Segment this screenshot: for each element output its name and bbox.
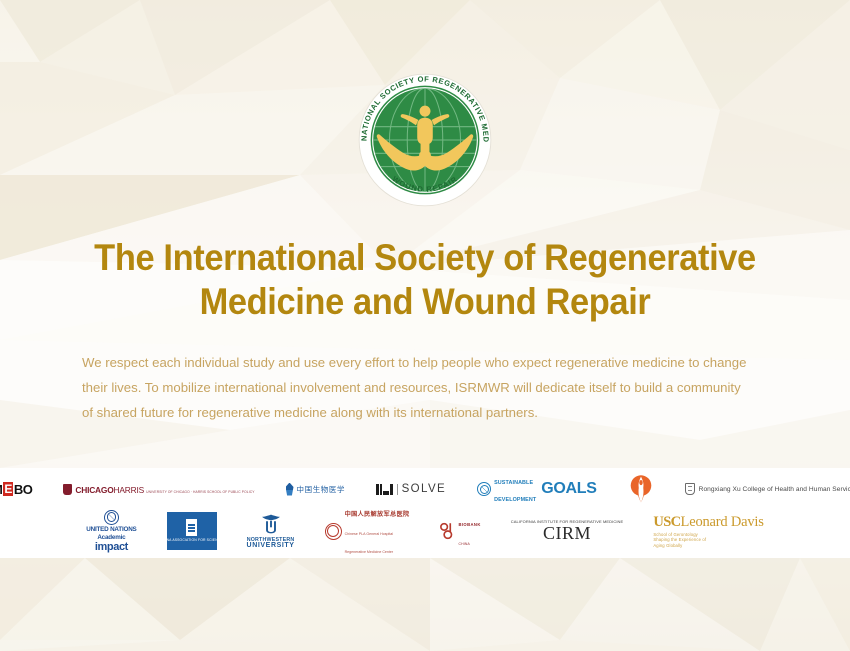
partner-logo-rongxiang-xu[interactable]: Rongxiang Xu College of Health and Human… — [685, 483, 850, 495]
partner-logo-blue-university[interactable]: NORTHWESTERN UNIVERSITY — [247, 513, 295, 550]
chicago-harris-subtitle: UNIVERSITY OF CHICAGO · HARRIS SCHOOL OF… — [146, 490, 254, 494]
orange-emblem-icon — [628, 474, 654, 504]
bio-b-line2: CHINA — [458, 542, 470, 546]
partner-logo-orange-emblem[interactable] — [628, 474, 654, 504]
blue-university-line2: UNIVERSITY — [247, 542, 295, 549]
mit-wordmark-icon — [376, 484, 393, 495]
chinese-academy-line3: Regenerative Medicine Center — [345, 550, 394, 554]
page-title: The International Society of Regenerativ… — [30, 236, 821, 324]
partner-logo-un-academic-impact[interactable]: UNITED NATIONS Academic impact — [86, 510, 136, 553]
page-title-line2: Medicine and Wound Repair — [200, 281, 651, 322]
mit-solve-label: SOLVE — [402, 483, 447, 495]
isrmwr-emblem-icon: THE INTERNATIONAL SOCIETY OF REGENERATIV… — [351, 66, 499, 214]
bio-b-line1: BIOBANK — [458, 522, 480, 527]
usc-wordmark: USC — [653, 514, 680, 530]
partner-logo-cn-blue-org[interactable]: 中国生物医学 — [286, 483, 346, 496]
partner-logo-bio-b[interactable]: BIOBANK CHINA — [439, 512, 480, 550]
partner-logo-row-1: MEBO CHICAGOHARRIS UNIVERSITY OF CHICAGO… — [0, 474, 850, 504]
chicago-harris-light: HARRIS — [114, 485, 144, 495]
chinese-academy-line1: 中国人民解放军总医院 — [345, 511, 410, 518]
chicago-harris-bold: CHICAGO — [75, 485, 113, 495]
partner-logo-chinese-academy[interactable]: 中国人民解放军总医院 Chinese PLA General Hospital … — [325, 503, 410, 558]
sdg-goals-label: GOALS — [541, 480, 596, 498]
usc-leonard-davis-name: Leonard Davis — [681, 514, 764, 530]
sdg-line1: SUSTAINABLE — [494, 480, 533, 486]
un-emblem-icon — [104, 510, 119, 525]
divider — [397, 484, 398, 495]
usc-sub-line1: School of Gerontology — [653, 532, 698, 537]
mebo-letters-bo: BO — [14, 482, 33, 497]
intro-paragraph: We respect each individual study and use… — [82, 350, 754, 425]
partner-logo-mebo[interactable]: MEBO — [0, 482, 32, 497]
cn-blue-org-label: 中国生物医学 — [297, 484, 346, 495]
partner-logo-un-sdg[interactable]: SUSTAINABLE DEVELOPMENT GOALS — [477, 472, 597, 506]
partner-logo-chicago-harris[interactable]: CHICAGOHARRIS UNIVERSITY OF CHICAGO · HA… — [63, 481, 254, 497]
page-content: THE INTERNATIONAL SOCIETY OF REGENERATIV… — [0, 0, 850, 651]
cn-blue-mark-icon — [286, 483, 294, 496]
mebo-letter-e: E — [3, 482, 14, 496]
cirm-wordmark: CIRM — [543, 524, 591, 543]
unai-line2: Academic — [97, 534, 125, 541]
usc-sub-line2: Shaping the Experience of — [653, 537, 706, 542]
un-emblem-icon — [477, 482, 491, 496]
page-title-line1: The International Society of Regenerativ… — [94, 237, 756, 278]
partner-logo-mit-solve[interactable]: SOLVE — [376, 483, 446, 495]
college-shield-icon — [685, 483, 695, 495]
unai-line1: UNITED NATIONS — [86, 526, 136, 533]
partner-logo-blue-rect-org[interactable]: CHINA ASSOCIATION FOR SCIENCE — [167, 512, 217, 550]
usc-sub-line3: Aging Globally — [653, 543, 682, 548]
chinese-academy-line2: Chinese PLA General Hospital — [345, 532, 394, 536]
partner-logo-row-2: UNITED NATIONS Academic impact CHINA ASS… — [0, 510, 850, 552]
blue-rect-caption: CHINA ASSOCIATION FOR SCIENCE — [160, 538, 223, 542]
partner-logo-cirm[interactable]: CALIFORNIA INSTITUTE FOR REGENERATIVE ME… — [511, 519, 624, 543]
academy-seal-icon — [325, 523, 342, 540]
blue-rect-glyph-icon — [186, 519, 197, 536]
shield-icon — [63, 484, 72, 495]
unai-line3: impact — [95, 542, 128, 553]
university-crest-icon — [260, 513, 282, 535]
partner-logo-band: MEBO CHICAGOHARRIS UNIVERSITY OF CHICAGO… — [0, 468, 850, 558]
sdg-line2: DEVELOPMENT — [494, 497, 536, 503]
bio-b-mark-icon — [439, 522, 455, 540]
rongxiang-xu-label: Rongxiang Xu College of Health and Human… — [699, 486, 850, 493]
isrmwr-emblem: THE INTERNATIONAL SOCIETY OF REGENERATIV… — [351, 66, 499, 214]
partner-logo-usc-leonard-davis[interactable]: USCLeonard Davis School of Gerontology S… — [653, 514, 763, 549]
